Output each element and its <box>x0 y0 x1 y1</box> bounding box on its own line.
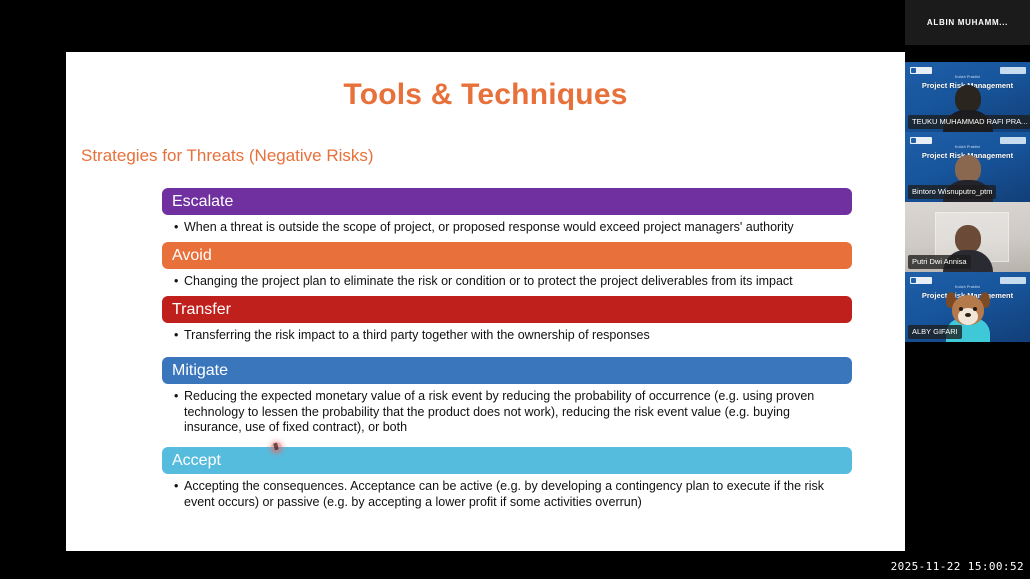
participant-tile[interactable]: Kuliah Praktisi Project Risk Management … <box>905 62 1030 132</box>
participant-tile[interactable]: Kuliah Praktisi Project Risk Management … <box>905 132 1030 202</box>
strategy-description-text: Changing the project plan to eliminate t… <box>184 274 793 288</box>
deck-badge-icon <box>1000 277 1026 284</box>
participant-name: ALBY GIFARI <box>908 325 962 340</box>
strategy-block-mitigate: Mitigate • Reducing the expected monetar… <box>162 357 852 443</box>
avatar-head <box>955 225 981 253</box>
active-speaker-name: ALBIN MUHAMM... <box>927 18 1008 27</box>
avatar-head <box>955 155 981 183</box>
deck-logo-icon <box>910 67 932 74</box>
strategy-description-text: Reducing the expected monetary value of … <box>184 389 814 435</box>
dog-eye-right <box>973 307 977 311</box>
strategy-band-mitigate: Mitigate <box>162 357 852 384</box>
shared-slide-canvas[interactable]: Tools & Techniques Strategies for Threat… <box>66 52 905 551</box>
bullet-icon: • <box>174 328 178 344</box>
strategy-band-transfer: Transfer <box>162 296 852 323</box>
strategy-description-accept: • Accepting the consequences. Acceptance… <box>162 474 852 517</box>
strategy-description-escalate: • When a threat is outside the scope of … <box>162 215 852 242</box>
deck-kicker: Kuliah Praktisi <box>955 145 980 149</box>
bullet-icon: • <box>174 220 178 236</box>
participant-rail: ALBIN MUHAMM... Kuliah Praktisi Project … <box>905 0 1030 579</box>
deck-kicker: Kuliah Praktisi <box>955 285 980 289</box>
strategy-band-escalate: Escalate <box>162 188 852 215</box>
strategy-block-transfer: Transfer • Transferring the risk impact … <box>162 296 852 350</box>
strategy-band-accept: Accept <box>162 447 852 474</box>
strategy-block-escalate: Escalate • When a threat is outside the … <box>162 188 852 242</box>
strategy-band-avoid: Avoid <box>162 242 852 269</box>
strategy-description-mitigate: • Reducing the expected monetary value o… <box>162 384 852 443</box>
strategy-description-text: Transferring the risk impact to a third … <box>184 328 650 342</box>
dog-eye-left <box>959 307 963 311</box>
meeting-screen: Tools & Techniques Strategies for Threat… <box>0 0 1030 579</box>
bullet-icon: • <box>174 479 178 495</box>
slide-subtitle: Strategies for Threats (Negative Risks) <box>81 146 374 166</box>
strategy-list: Escalate • When a threat is outside the … <box>162 188 852 517</box>
participant-tile[interactable]: Kuliah Praktisi Project Risk Management … <box>905 272 1030 342</box>
bullet-icon: • <box>174 389 178 405</box>
strategy-description-text: When a threat is outside the scope of pr… <box>184 220 794 234</box>
participant-name: Bintoro Wisnuputro_ptm <box>908 185 996 200</box>
strategy-block-avoid: Avoid • Changing the project plan to eli… <box>162 242 852 296</box>
recording-timestamp: 2025-11-22 15:00:52 <box>891 560 1024 573</box>
page-title: Tools & Techniques <box>66 78 905 112</box>
active-speaker-tile[interactable]: ALBIN MUHAMM... <box>905 0 1030 45</box>
strategy-description-transfer: • Transferring the risk impact to a thir… <box>162 323 852 350</box>
participant-tile[interactable]: Putri Dwi Annisa <box>905 202 1030 272</box>
deck-kicker: Kuliah Praktisi <box>955 75 980 79</box>
participant-name: Putri Dwi Annisa <box>908 255 971 270</box>
strategy-description-text: Accepting the consequences. Acceptance c… <box>184 479 824 509</box>
bullet-icon: • <box>174 274 178 290</box>
block-spacer <box>162 350 852 357</box>
deck-badge-icon <box>1000 67 1026 74</box>
deck-badge-icon <box>1000 137 1026 144</box>
deck-logo-icon <box>910 137 932 144</box>
deck-logo-icon <box>910 277 932 284</box>
strategy-block-accept: Accept • Accepting the consequences. Acc… <box>162 447 852 517</box>
avatar-head <box>955 85 981 113</box>
dog-nose <box>965 313 971 317</box>
strategy-description-avoid: • Changing the project plan to eliminate… <box>162 269 852 296</box>
participant-name: TEUKU MUHAMMAD RAFI PRAYOGI <box>908 115 1030 130</box>
